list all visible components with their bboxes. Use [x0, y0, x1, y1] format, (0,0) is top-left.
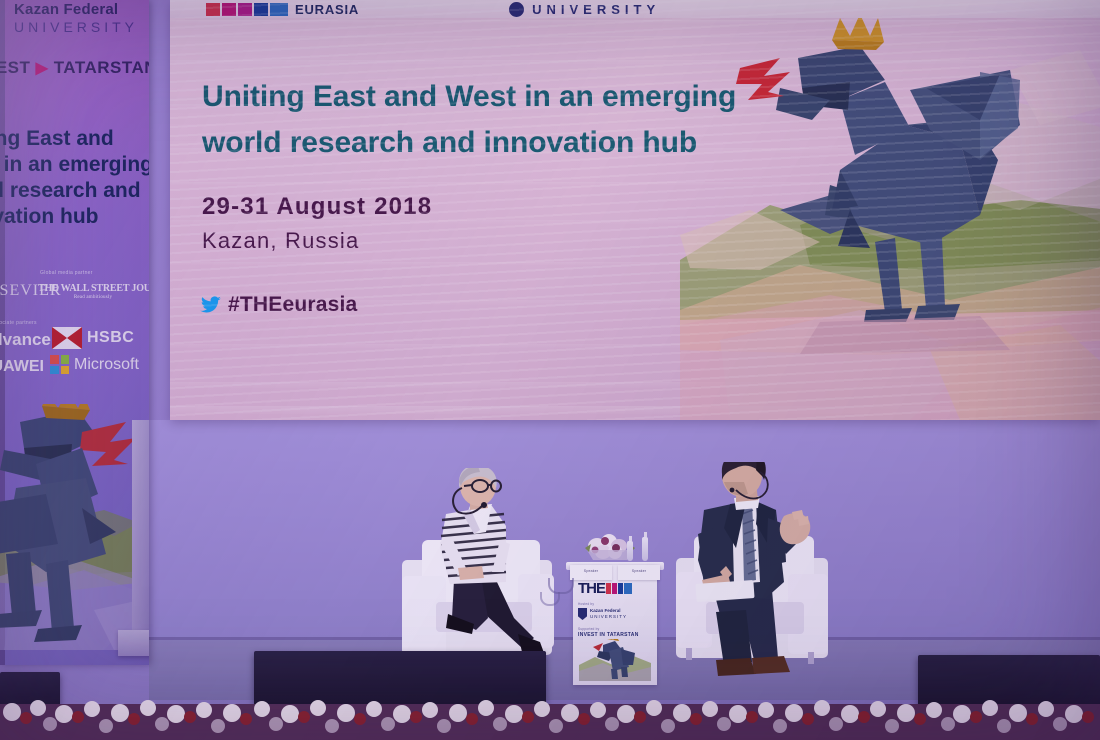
name-card-right: Speaker — [618, 565, 660, 580]
conference-stage-photo: EURASIA UNIVERSITY Uniting East and West… — [0, 0, 1100, 740]
hsbc-logo: HSBC — [52, 327, 134, 349]
table-dragon-artwork — [579, 639, 651, 681]
banner-invest-arrow-icon: ▶ — [36, 60, 49, 77]
microsoft-logo: Microsoft — [50, 355, 139, 374]
event-hashtag-group: #THEeurasia — [200, 293, 357, 317]
banner-support-post — [132, 420, 149, 635]
headline-line-2: world research and innovation hub — [202, 120, 762, 166]
table-kfu-sub: UNIVERSITY — [590, 614, 627, 620]
left-roll-up-banner: Kazan Federal UNIVERSITY INVEST ▶ TATARS… — [0, 0, 149, 665]
table-kfu-text: Kazan Federal UNIVERSITY — [590, 608, 627, 620]
headline-line-1: Uniting East and West in an emerging — [202, 74, 762, 120]
name-card-right-text: Speaker — [618, 569, 660, 573]
microsoft-label: Microsoft — [74, 356, 139, 374]
banner-invest-tatarstan: INVEST ▶ TATARSTAN — [0, 58, 149, 78]
side-table: THE Hosted by Kazan Federal UNIVERSITY S… — [573, 565, 657, 685]
water-bottle — [642, 537, 648, 561]
zilant-dragon-artwork — [680, 10, 1100, 420]
screen-header-logos: EURASIA UNIVERSITY — [170, 0, 1100, 18]
banner-kfu-line1: Kazan Federal — [14, 2, 149, 18]
banner-media-partner-label: Global media partner — [40, 270, 93, 276]
kfu-crest-icon — [578, 608, 587, 620]
banner-headline-line-1: Uniting East and — [0, 126, 149, 152]
main-projection-screen: EURASIA UNIVERSITY Uniting East and West… — [170, 0, 1100, 420]
banner-headline: Uniting East and West in an emerging wor… — [0, 126, 149, 230]
table-supported-label: Supported by — [578, 627, 652, 631]
microsoft-squares-icon — [50, 355, 69, 374]
hsbc-hexagon-icon — [52, 327, 82, 349]
banner-headline-line-4: innovation hub — [0, 204, 149, 230]
name-card-left-text: Speaker — [570, 569, 612, 573]
wsj-tagline: Read ambitiously — [38, 295, 148, 300]
banner-kfu-logo: Kazan Federal UNIVERSITY — [14, 2, 149, 36]
table-the-label: THE — [578, 581, 605, 596]
table-invest-label: INVEST IN TATARSTAN — [578, 632, 652, 638]
table-the-logo: THE — [578, 581, 652, 596]
speaker-right-panellist — [680, 462, 840, 697]
university-label: UNIVERSITY — [532, 2, 660, 17]
event-location: Kazan, Russia — [202, 228, 359, 254]
banner-base-foot — [118, 630, 149, 656]
screen-headline: Uniting East and West in an emerging wor… — [202, 74, 762, 166]
banner-headline-line-2: West in an emerging — [0, 152, 149, 178]
the-logo-icon — [206, 3, 288, 16]
twitter-bird-icon — [200, 296, 222, 314]
wsj-name: THE WALL STREET JOURNAL — [38, 283, 148, 294]
huawei-logo: HUAWEI — [0, 358, 44, 376]
table-branding-sign: THE Hosted by Kazan Federal UNIVERSITY S… — [578, 581, 652, 638]
university-crest-icon — [509, 2, 524, 17]
speaker-left-moderator — [418, 468, 568, 668]
event-dates: 29-31 August 2018 — [202, 193, 432, 221]
wsj-logo: THE WALL STREET JOURNAL Read ambitiously — [38, 283, 148, 300]
banner-invest-word: INVEST — [0, 58, 30, 77]
banner-headline-line-3: world research and — [0, 178, 149, 204]
banner-associate-partner-label: Associate partners — [0, 320, 37, 326]
university-logo-group: UNIVERSITY — [509, 2, 660, 17]
water-bottle — [627, 541, 633, 561]
banner-kfu-line2: UNIVERSITY — [14, 18, 149, 36]
table-kfu-logo: Kazan Federal UNIVERSITY — [578, 608, 652, 620]
eurasia-label: EURASIA — [295, 2, 359, 17]
stage-front-flower-bed — [0, 686, 1100, 740]
table-kfu-title: Kazan Federal — [590, 608, 621, 613]
name-card-left: Speaker — [570, 565, 612, 580]
event-hashtag: #THEeurasia — [228, 293, 357, 317]
table-hosted-label: Hosted by — [578, 602, 652, 606]
hsbc-label: HSBC — [87, 329, 134, 347]
banner-dragon-artwork — [0, 404, 149, 644]
banner-invest-region: TATARSTAN — [54, 58, 149, 77]
